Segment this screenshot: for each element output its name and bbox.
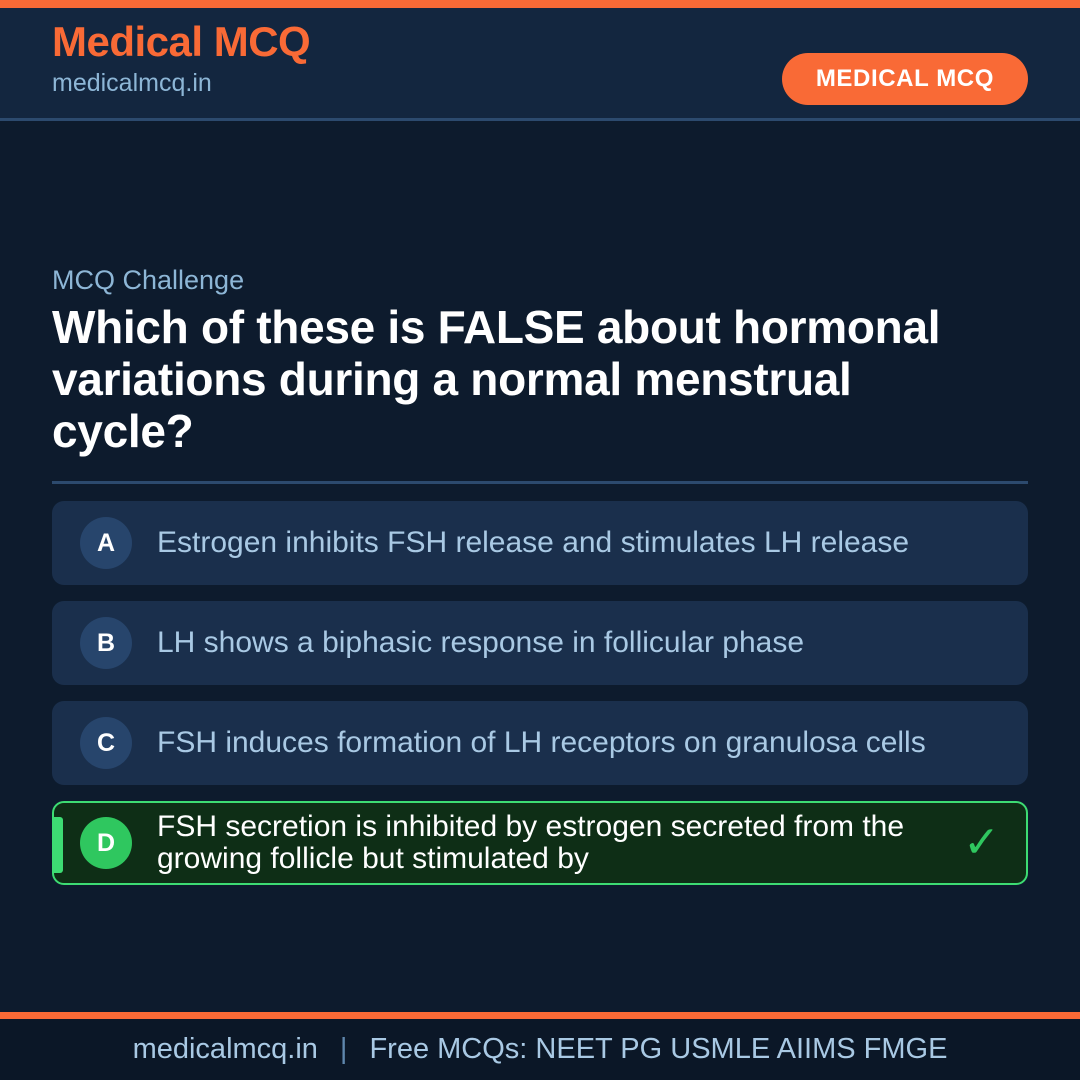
option-letter-c: C (80, 717, 132, 769)
option-row-b[interactable]: B LH shows a biphasic response in follic… (52, 601, 1028, 685)
option-letter-a: A (80, 517, 132, 569)
option-text-d: FSH secretion is inhibited by estrogen s… (157, 811, 955, 875)
question-divider (52, 481, 1028, 484)
footer-exams: Free MCQs: NEET PG USMLE AIIMS FMGE (369, 1033, 947, 1066)
brand-title: Medical MCQ (52, 18, 310, 66)
option-letter-b: B (80, 617, 132, 669)
page-footer: medicalmcq.in | Free MCQs: NEET PG USMLE… (0, 1019, 1080, 1080)
correct-accent-bar (54, 817, 63, 873)
options-list: A Estrogen inhibits FSH release and stim… (52, 501, 1028, 885)
footer-accent-bar (0, 1012, 1080, 1019)
option-row-a[interactable]: A Estrogen inhibits FSH release and stim… (52, 501, 1028, 585)
kicker-label: MCQ Challenge (52, 264, 244, 296)
option-row-d[interactable]: D FSH secretion is inhibited by estrogen… (52, 801, 1028, 885)
brand-block: Medical MCQ medicalmcq.in (52, 18, 310, 98)
option-letter-d: D (80, 817, 132, 869)
option-text-a: Estrogen inhibits FSH release and stimul… (157, 527, 1004, 559)
checkmark-icon: ✓ (963, 821, 1000, 865)
footer-separator: | (340, 1033, 348, 1066)
option-text-c: FSH induces formation of LH receptors on… (157, 727, 1004, 759)
top-accent-bar (0, 0, 1080, 8)
main-content: MCQ Challenge Which of these is FALSE ab… (0, 124, 1080, 1012)
page-header: Medical MCQ medicalmcq.in MEDICAL MCQ (0, 8, 1080, 121)
question-text: Which of these is FALSE about hormonal v… (52, 302, 972, 458)
option-text-b: LH shows a biphasic response in follicul… (157, 627, 1004, 659)
brand-badge: MEDICAL MCQ (782, 53, 1028, 105)
footer-site: medicalmcq.in (133, 1033, 318, 1066)
brand-subtitle: medicalmcq.in (52, 68, 310, 98)
option-row-c[interactable]: C FSH induces formation of LH receptors … (52, 701, 1028, 785)
